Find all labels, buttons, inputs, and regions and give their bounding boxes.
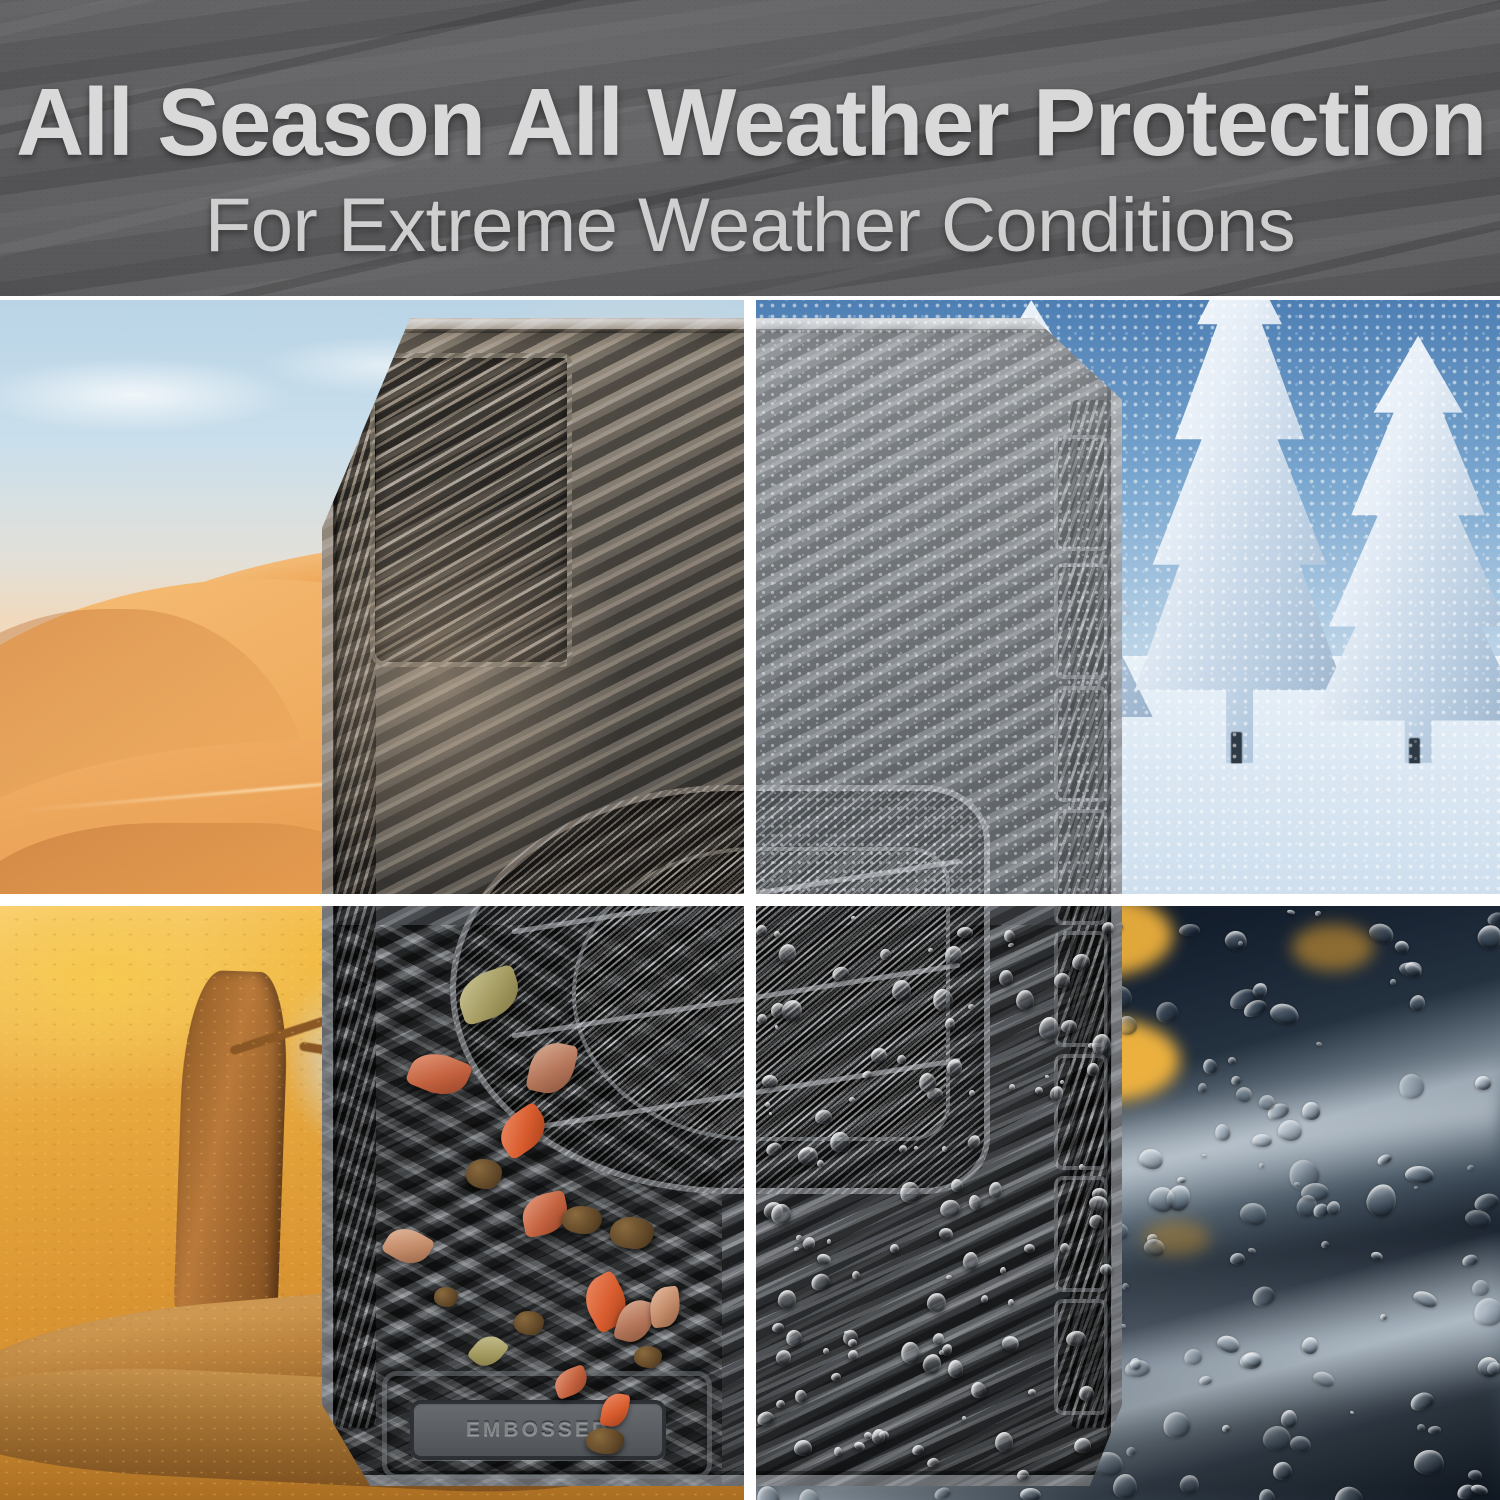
rain-droplet: [1234, 1085, 1254, 1105]
rain-droplet: [1370, 1250, 1384, 1261]
rain-droplet: [1302, 1101, 1321, 1120]
rain-droplet: [1474, 922, 1500, 954]
water-bead: [1091, 1033, 1111, 1055]
rain-droplet: [1464, 1208, 1493, 1230]
rain-droplet: [1376, 1152, 1393, 1167]
mud-clump: [634, 1346, 662, 1368]
rain-droplet: [1238, 1200, 1269, 1228]
rain-droplet: [932, 1485, 952, 1500]
rain-droplet: [1113, 1474, 1137, 1500]
subheadline: For Extreme Weather Conditions: [0, 182, 1500, 269]
rain-droplet: [1222, 928, 1249, 952]
rain-droplet: [1198, 1375, 1212, 1386]
rain-droplet: [1428, 1425, 1441, 1434]
water-bead: [892, 980, 911, 1002]
rain-droplet: [1289, 1434, 1313, 1454]
rain-droplet: [1124, 1445, 1137, 1457]
rain-droplet: [1487, 1362, 1500, 1376]
rain-droplet: [1326, 1199, 1342, 1216]
rain-droplet: [1230, 1075, 1243, 1087]
rain-droplet: [1122, 1283, 1130, 1291]
rain-droplet: [1201, 1057, 1219, 1076]
rain-droplet: [1252, 1134, 1272, 1147]
product-marketing-image: All Season All Weather Protection For Ex…: [0, 0, 1500, 1500]
water-bead: [755, 924, 767, 935]
rain-droplet: [1178, 1473, 1201, 1496]
water-bead: [945, 945, 962, 964]
mud-clump: [586, 1428, 624, 1454]
mud-clump: [434, 1287, 458, 1307]
rain-droplet: [1258, 1162, 1265, 1169]
water-bead: [1028, 1388, 1036, 1394]
rain-droplet: [1262, 1424, 1292, 1451]
water-bead: [757, 1013, 767, 1024]
rain-droplet: [1408, 994, 1427, 1014]
rain-droplet: [1396, 1071, 1427, 1102]
rain-droplet: [1379, 1313, 1388, 1321]
water-bead: [989, 1182, 1003, 1198]
rain-droplet: [1474, 1076, 1490, 1091]
grid-divider-horizontal: [0, 894, 1500, 906]
rain-droplet: [1405, 1165, 1435, 1184]
mud-clump: [610, 1217, 654, 1249]
water-bead: [834, 1446, 843, 1455]
rain-droplet: [1280, 1410, 1298, 1429]
rain-droplet: [1471, 1279, 1490, 1297]
water-bead: [999, 1267, 1006, 1275]
rain-droplet: [1329, 1482, 1366, 1500]
rain-droplet: [1020, 1488, 1042, 1500]
rain-droplet: [1389, 979, 1396, 986]
rain-droplet: [1467, 1469, 1482, 1480]
rain-droplet: [1414, 1450, 1443, 1474]
water-bead: [768, 1111, 772, 1115]
rain-droplet: [1197, 1082, 1206, 1092]
mud-clump: [562, 1206, 602, 1234]
water-bead: [771, 1003, 785, 1019]
rain-droplet: [1278, 1119, 1303, 1141]
water-bead: [896, 1054, 906, 1064]
header-seam: [0, 296, 1500, 300]
rain-droplet: [1248, 1247, 1257, 1254]
rain-droplet: [1243, 1351, 1263, 1368]
rain-droplet: [1179, 924, 1201, 937]
rain-droplet: [1177, 1176, 1186, 1183]
rain-droplet: [1315, 1042, 1322, 1048]
rain-droplet: [796, 1487, 821, 1500]
water-bead: [1039, 1017, 1059, 1040]
rain-droplet: [1311, 1368, 1336, 1389]
rain-droplet: [1257, 1487, 1277, 1500]
rain-droplet: [1350, 1410, 1355, 1414]
rain-droplet: [1272, 1460, 1293, 1481]
rain-droplet: [1467, 1164, 1475, 1171]
water-bead: [1008, 1299, 1014, 1306]
water-bead: [999, 969, 1013, 985]
water-bead: [850, 915, 855, 920]
rain-droplet: [1472, 1295, 1500, 1327]
mud-clump: [514, 1311, 544, 1335]
rain-droplet: [1287, 909, 1296, 915]
rain-droplet: [1320, 1240, 1330, 1249]
rain-droplet: [1228, 1057, 1236, 1064]
rain-droplet: [1268, 1001, 1302, 1029]
rain-droplet: [1398, 960, 1424, 980]
rain-droplet: [1215, 1332, 1242, 1355]
water-bead: [994, 1431, 1013, 1452]
rain-droplet: [1300, 1335, 1319, 1355]
rain-droplet: [1222, 1424, 1231, 1432]
rain-droplet: [1416, 1424, 1424, 1432]
rain-droplet: [1137, 1147, 1164, 1171]
water-bead: [871, 1428, 885, 1444]
rain-droplet: [1202, 1153, 1208, 1157]
rain-droplet: [1314, 911, 1321, 917]
rain-droplet: [1363, 1180, 1400, 1219]
rain-droplet: [1301, 1183, 1330, 1202]
rain-droplet: [1213, 1122, 1231, 1142]
rain-droplet: [1366, 920, 1397, 948]
water-bead: [890, 1244, 899, 1253]
mat-lip-highlight: [386, 318, 1074, 332]
rain-droplet: [1154, 1000, 1179, 1024]
water-bead: [962, 1251, 978, 1270]
mud-clump: [466, 1159, 502, 1189]
header-banner: All Season All Weather Protection For Ex…: [0, 0, 1500, 297]
rain-droplet: [1411, 1288, 1439, 1311]
rain-droplet: [1393, 939, 1410, 955]
rain-droplet: [1414, 1185, 1419, 1189]
rain-droplet: [1160, 1409, 1193, 1441]
water-bead: [830, 1372, 841, 1381]
rain-droplet: [1230, 1252, 1246, 1265]
rain-droplet: [1408, 1389, 1437, 1413]
headline: All Season All Weather Protection: [16, 68, 1464, 178]
rain-droplet: [1183, 1347, 1204, 1366]
water-bead: [1087, 1063, 1099, 1076]
rain-droplet: [1250, 1284, 1278, 1310]
rain-droplet: [1460, 1253, 1478, 1268]
